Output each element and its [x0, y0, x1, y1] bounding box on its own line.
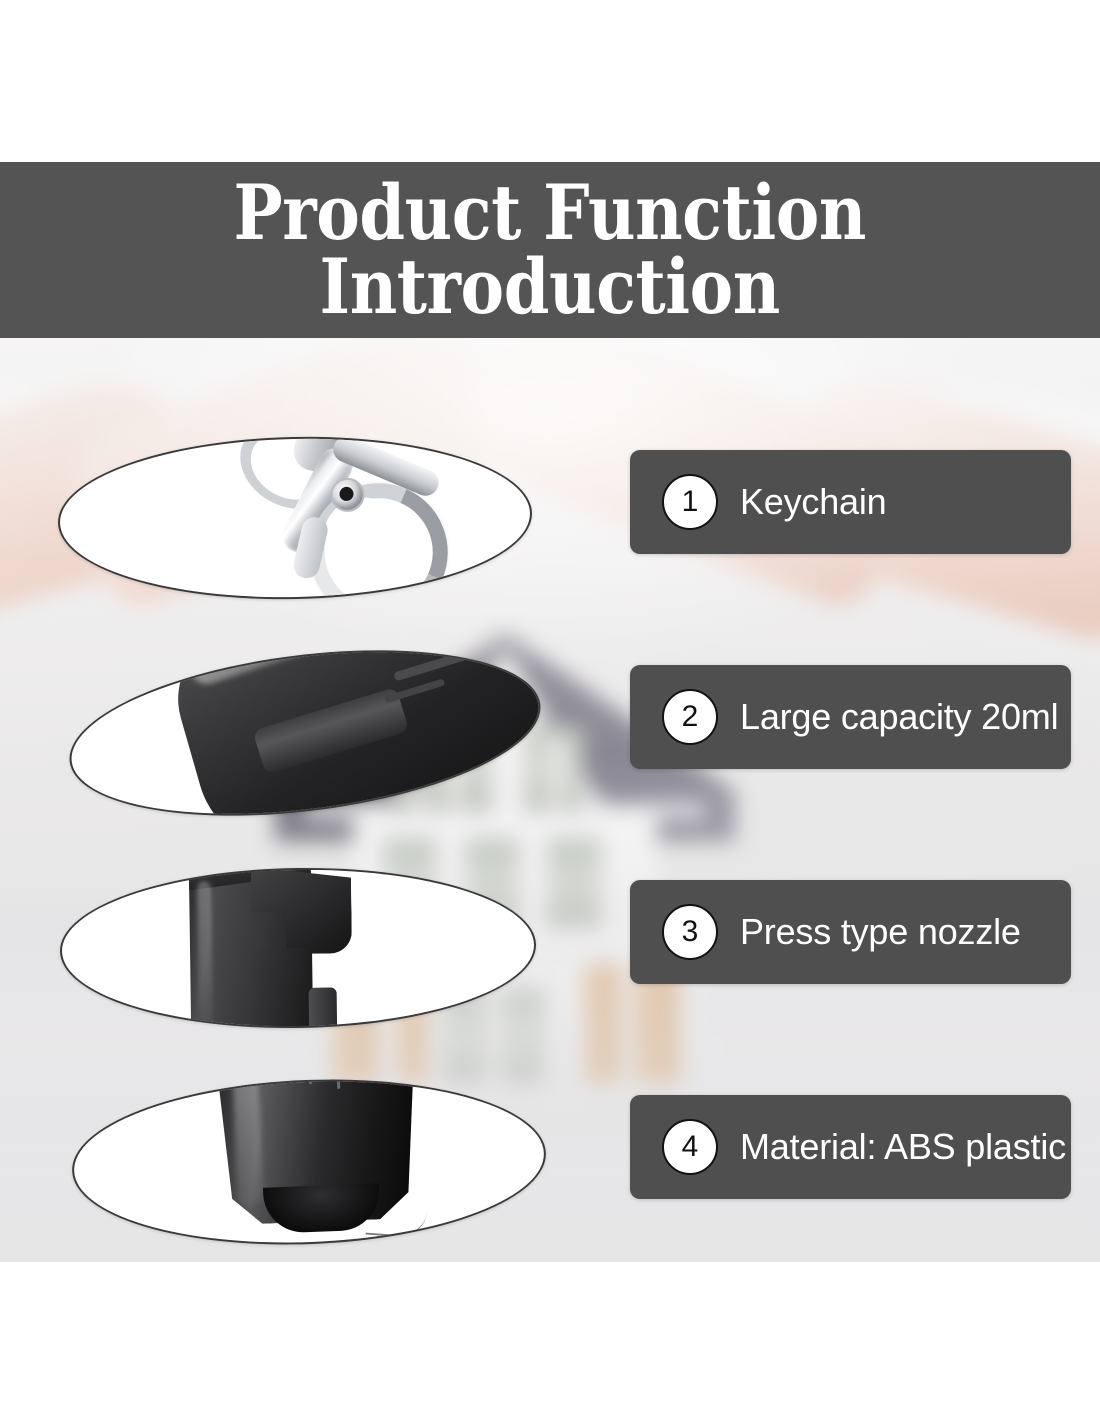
page-title: Product Function Introduction [217, 176, 884, 325]
title-banner: Product Function Introduction [0, 162, 1100, 338]
feature-image-oval-material [69, 1071, 549, 1253]
feature-label-bar-1: 1 Keychain [630, 450, 1071, 554]
bottle-wire [366, 1207, 428, 1239]
bottle-base [263, 1183, 381, 1233]
feature-label-bar-3: 3 Press type nozzle [630, 880, 1071, 984]
feature-label-text: Keychain [740, 481, 887, 523]
press-nozzle [188, 865, 391, 1032]
oval-content [58, 434, 531, 602]
feature-label-bar-4: 4 Material: ABS plastic [630, 1095, 1071, 1199]
feature-label-text: Press type nozzle [740, 911, 1021, 953]
bottle-highlight [231, 1071, 263, 1207]
nozzle-stem [309, 987, 338, 1031]
nozzle-highlight [197, 881, 213, 1031]
keychain-clasp-icon [233, 432, 467, 604]
feature-image-oval-keychain [56, 432, 533, 604]
oval-content [61, 867, 535, 1030]
feature-label-text: Material: ABS plastic [740, 1126, 1066, 1168]
feature-number-badge: 1 [662, 474, 718, 530]
feature-label-bar-2: 2 Large capacity 20ml [630, 665, 1071, 769]
nozzle-lip [250, 948, 309, 1031]
abs-bottle [209, 1071, 427, 1252]
feature-image-oval-nozzle [59, 865, 537, 1032]
infographic-page: Product Function Introduction [0, 0, 1100, 1422]
feature-number-badge: 2 [662, 689, 718, 745]
oval-content [71, 1073, 547, 1251]
feature-number-badge: 3 [662, 904, 718, 960]
feature-label-text: Large capacity 20ml [740, 696, 1058, 738]
feature-number-badge: 4 [662, 1119, 718, 1175]
